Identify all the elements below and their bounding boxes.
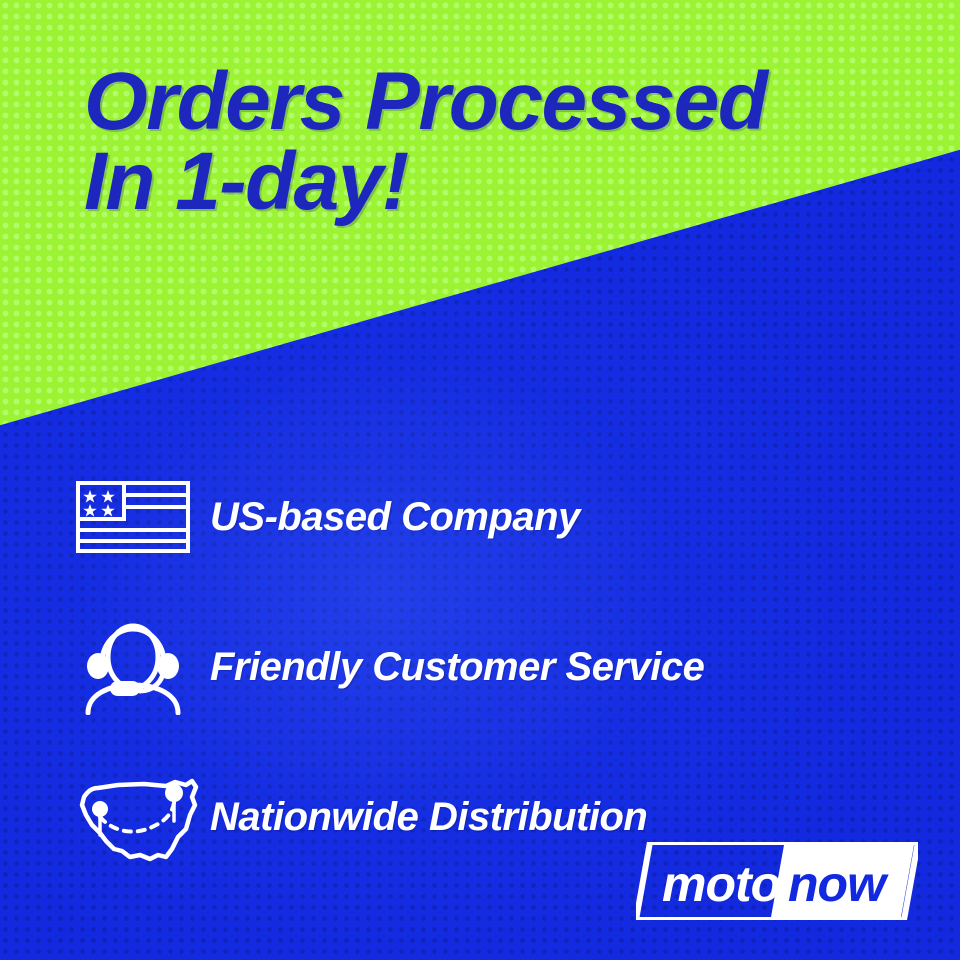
logo-text-now: now: [788, 856, 889, 912]
brand-logo[interactable]: moto now: [636, 842, 918, 920]
list-item: Friendly Customer Service: [74, 592, 904, 742]
list-item: US-based Company: [74, 442, 904, 592]
logo-text-moto: moto: [662, 856, 780, 912]
list-item-label: Friendly Customer Service: [210, 645, 704, 690]
promo-poster: Orders Processed In 1-day!: [0, 0, 960, 960]
us-map-route-icon: [74, 771, 210, 863]
us-flag-icon: [74, 477, 210, 557]
feature-list: US-based Company: [74, 442, 904, 892]
headset-support-icon: [74, 619, 210, 715]
page-title: Orders Processed In 1-day!: [84, 62, 924, 223]
list-item-label: US-based Company: [210, 495, 580, 540]
list-item-label: Nationwide Distribution: [210, 795, 647, 840]
